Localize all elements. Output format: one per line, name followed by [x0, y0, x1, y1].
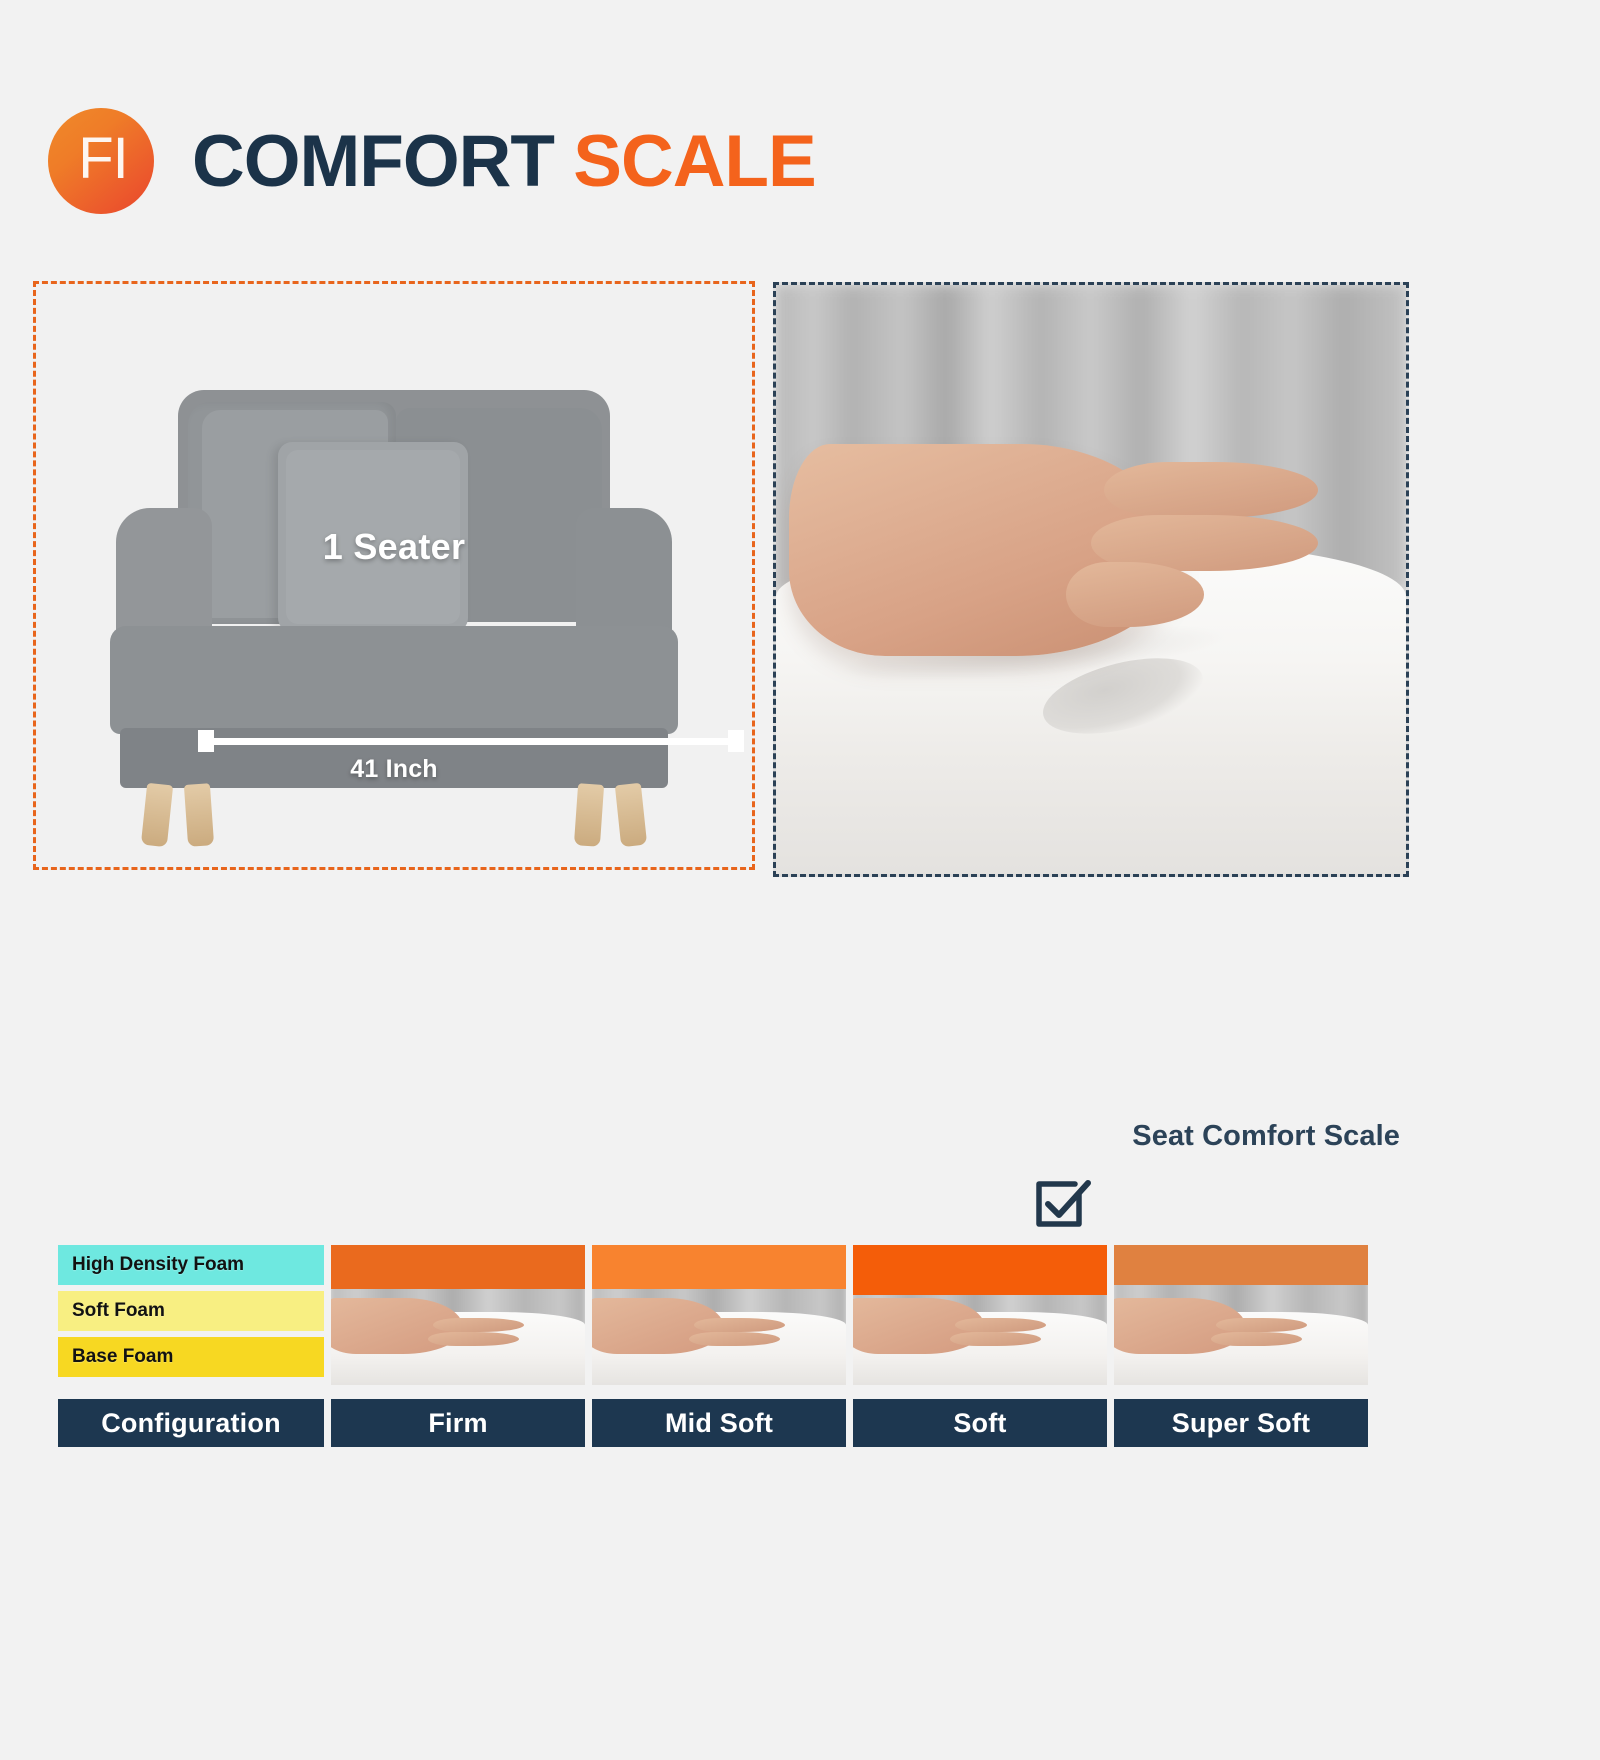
sofa-leg [615, 783, 647, 847]
seater-label: 1 Seater [110, 526, 678, 568]
legend-band-soft-foam: Soft Foam [58, 1291, 324, 1331]
label-soft[interactable]: Soft [853, 1399, 1107, 1447]
comfort-scale-page: FI COMFORT SCALE [0, 0, 1600, 1760]
dimension-line [198, 738, 744, 745]
thumb-finger [428, 1332, 519, 1346]
legend-band-base-foam: Base Foam [58, 1337, 324, 1377]
sofa-panel: 1 Seater 41 Inch [33, 281, 755, 870]
label-firm[interactable]: Firm [331, 1399, 585, 1447]
photo-finger [1104, 462, 1318, 518]
comfort-level-labels: Firm Mid Soft Soft Super Soft [331, 1399, 1368, 1447]
selected-option-checkbox[interactable] [1030, 1174, 1096, 1234]
thumb-finger [955, 1318, 1046, 1332]
top-panels: 1 Seater 41 Inch [33, 281, 1570, 877]
thumb-foam-band [853, 1245, 1107, 1295]
page-header: FI COMFORT SCALE [48, 108, 816, 214]
dimension-cap-right [728, 730, 744, 752]
dimension-label: 41 Inch [110, 755, 678, 784]
comfort-thumb-mid-soft[interactable] [592, 1245, 846, 1385]
hand-on-foam-photo [776, 285, 1406, 874]
thumb-foam-band [1114, 1245, 1368, 1285]
configuration-labels-row: Configuration Firm Mid Soft Soft Super S… [58, 1399, 1368, 1447]
foam-legend-column: High Density Foam Soft Foam Base Foam [58, 1245, 324, 1385]
dimension-bar-icon [198, 730, 744, 752]
comfort-scale-grid: High Density Foam Soft Foam Base Foam [58, 1245, 1368, 1447]
thumb-finger [433, 1318, 524, 1332]
brand-logo-icon: FI [48, 108, 154, 214]
comfort-thumbnails [331, 1245, 1368, 1385]
seat-comfort-scale-title: Seat Comfort Scale [1132, 1120, 1400, 1153]
thumb-foam-band [331, 1245, 585, 1289]
comfort-thumb-super-soft[interactable] [1114, 1245, 1368, 1385]
sofa-leg [141, 783, 173, 847]
page-title: COMFORT SCALE [192, 125, 816, 198]
label-configuration: Configuration [58, 1399, 324, 1447]
page-title-word-2: SCALE [573, 121, 815, 202]
checkbox-checked-icon [1030, 1174, 1096, 1234]
foam-photo-panel [773, 282, 1409, 877]
sofa-seat-cushion [110, 626, 678, 734]
legend-band-high-density-foam: High Density Foam [58, 1245, 324, 1285]
sofa-leg [184, 783, 214, 847]
sofa-illustration: 1 Seater 41 Inch [110, 380, 678, 830]
thumb-finger [1216, 1318, 1307, 1332]
logo-monogram: FI [48, 108, 154, 214]
thumb-finger [950, 1332, 1041, 1346]
sofa-leg [574, 783, 604, 847]
page-title-word-1: COMFORT [192, 121, 554, 202]
thumb-finger [694, 1318, 785, 1332]
thumb-finger [689, 1332, 780, 1346]
thumb-finger [1211, 1332, 1302, 1346]
thumb-foam-band [592, 1245, 846, 1289]
label-super-soft[interactable]: Super Soft [1114, 1399, 1368, 1447]
foam-bands-row: High Density Foam Soft Foam Base Foam [58, 1245, 1368, 1385]
label-mid-soft[interactable]: Mid Soft [592, 1399, 846, 1447]
comfort-thumb-firm[interactable] [331, 1245, 585, 1385]
comfort-thumb-soft[interactable] [853, 1245, 1107, 1385]
